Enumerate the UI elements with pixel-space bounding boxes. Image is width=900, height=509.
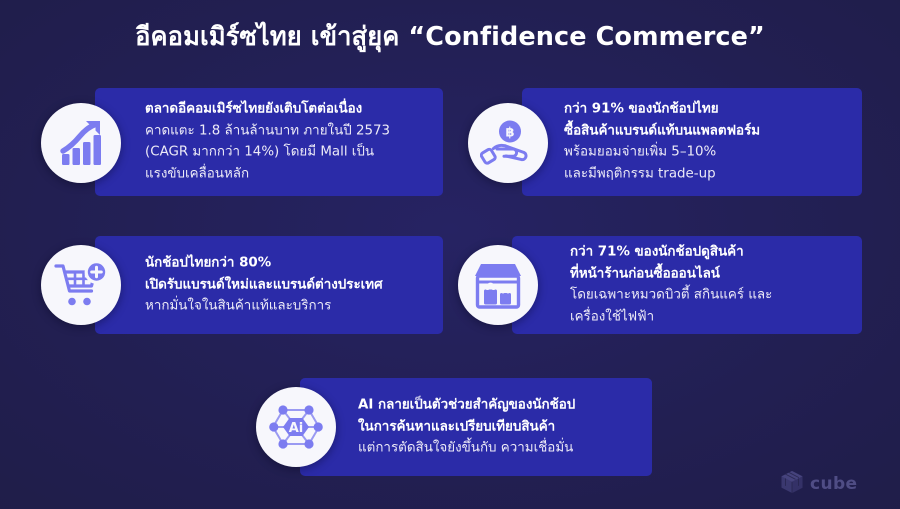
storefront-shopping-bags-icon (458, 245, 538, 325)
card-line: นักช้อปไทยกว่า 80% (145, 252, 383, 274)
card-ai-shopping-assistant: AI กลายเป็นตัวช่วยสำคัญของนักช้อป ในการค… (300, 378, 652, 476)
card-line: กว่า 71% ของนักช้อปดูสินค้า (570, 242, 772, 264)
card-market-growth-text: ตลาดอีคอมเมิร์ซไทยยังเติบโตต่อเนื่อง คาด… (145, 99, 390, 186)
card-line: เปิดรับแบรนด์ใหม่และแบรนด์ต่างประเทศ (145, 274, 383, 296)
card-line: ที่หน้าร้านก่อนซื้อออนไลน์ (570, 263, 772, 285)
cube-logo-icon (779, 469, 805, 499)
infographic-canvas: อีคอมเมิร์ซไทย เข้าสู่ยุค “Confidence Co… (0, 0, 900, 509)
card-line: (CAGR มากกว่า 14%) โดยมี Mall เป็น (145, 142, 390, 164)
card-line: แรงขับเคลื่อนหลัก (145, 164, 390, 186)
card-open-to-new-brands: นักช้อปไทยกว่า 80% เปิดรับแบรนด์ใหม่และแ… (95, 236, 443, 334)
card-line: AI กลายเป็นตัวช่วยสำคัญของนักช้อป (358, 394, 575, 416)
cube-logo: cube (779, 469, 857, 499)
card-offline-research-online-buy: กว่า 71% ของนักช้อปดูสินค้า ที่หน้าร้านก… (512, 236, 862, 334)
card-authentic-brand-purchase-text: กว่า 91% ของนักช้อปไทย ซื้อสินค้าแบรนด์แ… (564, 99, 760, 186)
card-line: ในการค้นหาและเปรียบเทียบสินค้า (358, 416, 575, 438)
card-line: แต่การตัดสินใจยังขึ้นกับ ความเชื่อมั่น (358, 438, 575, 460)
ai-network-hexagon-icon: Ai (256, 387, 336, 467)
card-open-to-new-brands-text: นักช้อปไทยกว่า 80% เปิดรับแบรนด์ใหม่และแ… (145, 252, 383, 317)
card-line: เครื่องใช้ไฟฟ้า (570, 307, 772, 329)
card-line: กว่า 91% ของนักช้อปไทย (564, 99, 760, 121)
card-line: พร้อมยอมจ่ายเพิ่ม 5–10% (564, 142, 760, 164)
card-offline-research-online-buy-text: กว่า 71% ของนักช้อปดูสินค้า ที่หน้าร้านก… (570, 242, 772, 329)
baht-symbol-label: ฿ (505, 126, 514, 141)
card-ai-shopping-assistant-text: AI กลายเป็นตัวช่วยสำคัญของนักช้อป ในการค… (358, 394, 575, 459)
growth-chart-icon (41, 103, 121, 183)
card-line: หากมั่นใจในสินค้าแท้และบริการ (145, 296, 383, 318)
shopping-cart-plus-icon (41, 245, 121, 325)
card-line: คาดแตะ 1.8 ล้านล้านบาท ภายในปี 2573 (145, 120, 390, 142)
page-title: อีคอมเมิร์ซไทย เข้าสู่ยุค “Confidence Co… (0, 22, 900, 53)
card-authentic-brand-purchase: กว่า 91% ของนักช้อปไทย ซื้อสินค้าแบรนด์แ… (522, 88, 862, 196)
card-market-growth: ตลาดอีคอมเมิร์ซไทยยังเติบโตต่อเนื่อง คาด… (95, 88, 443, 196)
cube-logo-text: cube (810, 474, 857, 494)
hand-holding-baht-coin-icon: ฿ (468, 103, 548, 183)
card-line: โดยเฉพาะหมวดบิวตี้ สกินแคร์ และ (570, 285, 772, 307)
ai-badge-label: Ai (289, 421, 304, 436)
card-line: และมีพฤติกรรม trade-up (564, 164, 760, 186)
card-line: ตลาดอีคอมเมิร์ซไทยยังเติบโตต่อเนื่อง (145, 99, 390, 121)
card-line: ซื้อสินค้าแบรนด์แท้บนแพลตฟอร์ม (564, 120, 760, 142)
